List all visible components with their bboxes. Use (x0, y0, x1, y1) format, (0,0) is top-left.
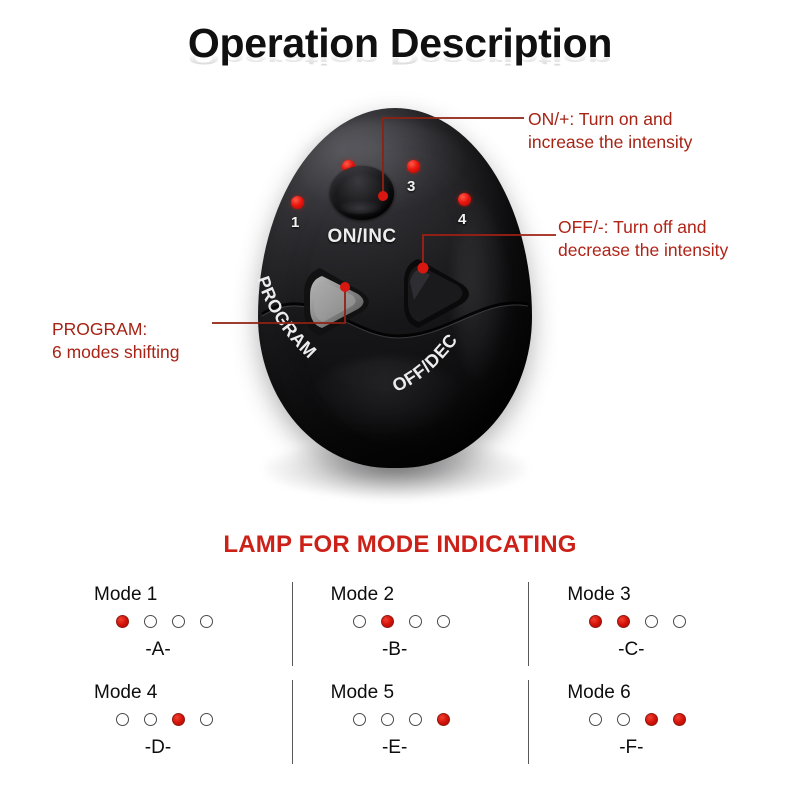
lamp-indicator-off (673, 615, 686, 628)
callout-on-plus: ON/+: Turn on and increase the intensity (528, 108, 788, 154)
lamp-indicator-off (437, 615, 450, 628)
mode-cell-5: Mode 5 -E- (293, 676, 530, 774)
lamp-indicator-off (144, 615, 157, 628)
lamp-section-heading: LAMP FOR MODE INDICATING (0, 531, 800, 559)
mode-5-letter: -E- (355, 737, 435, 759)
callout-off-minus: OFF/-: Turn off and decrease the intensi… (558, 216, 798, 262)
lamp-indicator-on (645, 713, 658, 726)
callout-program-line1: PROGRAM: (52, 318, 262, 341)
lamp-indicator-off (116, 713, 129, 726)
device-illustration: 1 2 3 4 ON/INC (218, 108, 570, 518)
device-led-4-label: 4 (458, 211, 466, 228)
mode-2-lamps (353, 615, 530, 628)
page-title-reflection: Operation Description (0, 49, 800, 67)
device-led-1-label: 1 (291, 214, 299, 231)
lamp-indicator-on (673, 713, 686, 726)
lamp-indicator-on (589, 615, 602, 628)
lamp-indicator-off (409, 615, 422, 628)
mode-1-title: Mode 1 (94, 584, 293, 606)
lamp-indicator-on (381, 615, 394, 628)
lamp-indicator-on (116, 615, 129, 628)
device-led-3 (407, 160, 420, 173)
mode-3-letter: -C- (591, 639, 671, 661)
mode-4-lamps (116, 713, 293, 726)
operation-description-page: Operation Description Operation Descript… (0, 0, 800, 800)
mode-5-lamps (353, 713, 530, 726)
lamp-indicator-on (172, 713, 185, 726)
callout-on-plus-line2: increase the intensity (528, 131, 788, 154)
mode-3-lamps (589, 615, 766, 628)
lamp-indicator-off (381, 713, 394, 726)
lamp-indicator-on (437, 713, 450, 726)
callout-program-line2: 6 modes shifting (52, 341, 262, 364)
lamp-indicator-off (353, 713, 366, 726)
off-dec-label-text: OFF/DEC (389, 330, 461, 396)
mode-5-title: Mode 5 (331, 682, 530, 704)
mode-6-letter: -F- (591, 737, 671, 759)
mode-grid: Mode 1 -A- Mode 2 -B- Mode 3 -C- Mode 4 … (56, 578, 766, 774)
mode-4-title: Mode 4 (94, 682, 293, 704)
lamp-indicator-off (645, 615, 658, 628)
mode-cell-2: Mode 2 -B- (293, 578, 530, 676)
lamp-indicator-off (589, 713, 602, 726)
lamp-indicator-off (200, 713, 213, 726)
lamp-indicator-off (409, 713, 422, 726)
device-led-1 (291, 196, 304, 209)
mode-3-title: Mode 3 (567, 584, 766, 606)
page-title-block: Operation Description Operation Descript… (0, 22, 800, 110)
lamp-indicator-off (172, 615, 185, 628)
on-inc-button[interactable] (330, 166, 394, 220)
device-led-4 (458, 193, 471, 206)
callout-off-minus-line2: decrease the intensity (558, 239, 798, 262)
lamp-indicator-off (144, 713, 157, 726)
mode-2-letter: -B- (355, 639, 435, 661)
off-dec-button-label: OFF/DEC (378, 260, 548, 410)
lamp-indicator-on (617, 615, 630, 628)
mode-4-letter: -D- (118, 737, 198, 759)
mode-cell-3: Mode 3 -C- (529, 578, 766, 676)
mode-6-title: Mode 6 (567, 682, 766, 704)
mode-6-lamps (589, 713, 766, 726)
mode-cell-1: Mode 1 -A- (56, 578, 293, 676)
mode-cell-4: Mode 4 -D- (56, 676, 293, 774)
lamp-indicator-off (617, 713, 630, 726)
callout-program: PROGRAM: 6 modes shifting (52, 318, 262, 364)
callout-on-plus-line1: ON/+: Turn on and (528, 108, 788, 131)
program-label-text: PROGRAM (253, 274, 321, 363)
mode-1-lamps (116, 615, 293, 628)
mode-2-title: Mode 2 (331, 584, 530, 606)
mode-1-letter: -A- (118, 639, 198, 661)
callout-off-minus-line1: OFF/-: Turn off and (558, 216, 798, 239)
lamp-indicator-off (353, 615, 366, 628)
lamp-indicator-off (200, 615, 213, 628)
mode-cell-6: Mode 6 -F- (529, 676, 766, 774)
device-led-3-label: 3 (407, 178, 415, 195)
